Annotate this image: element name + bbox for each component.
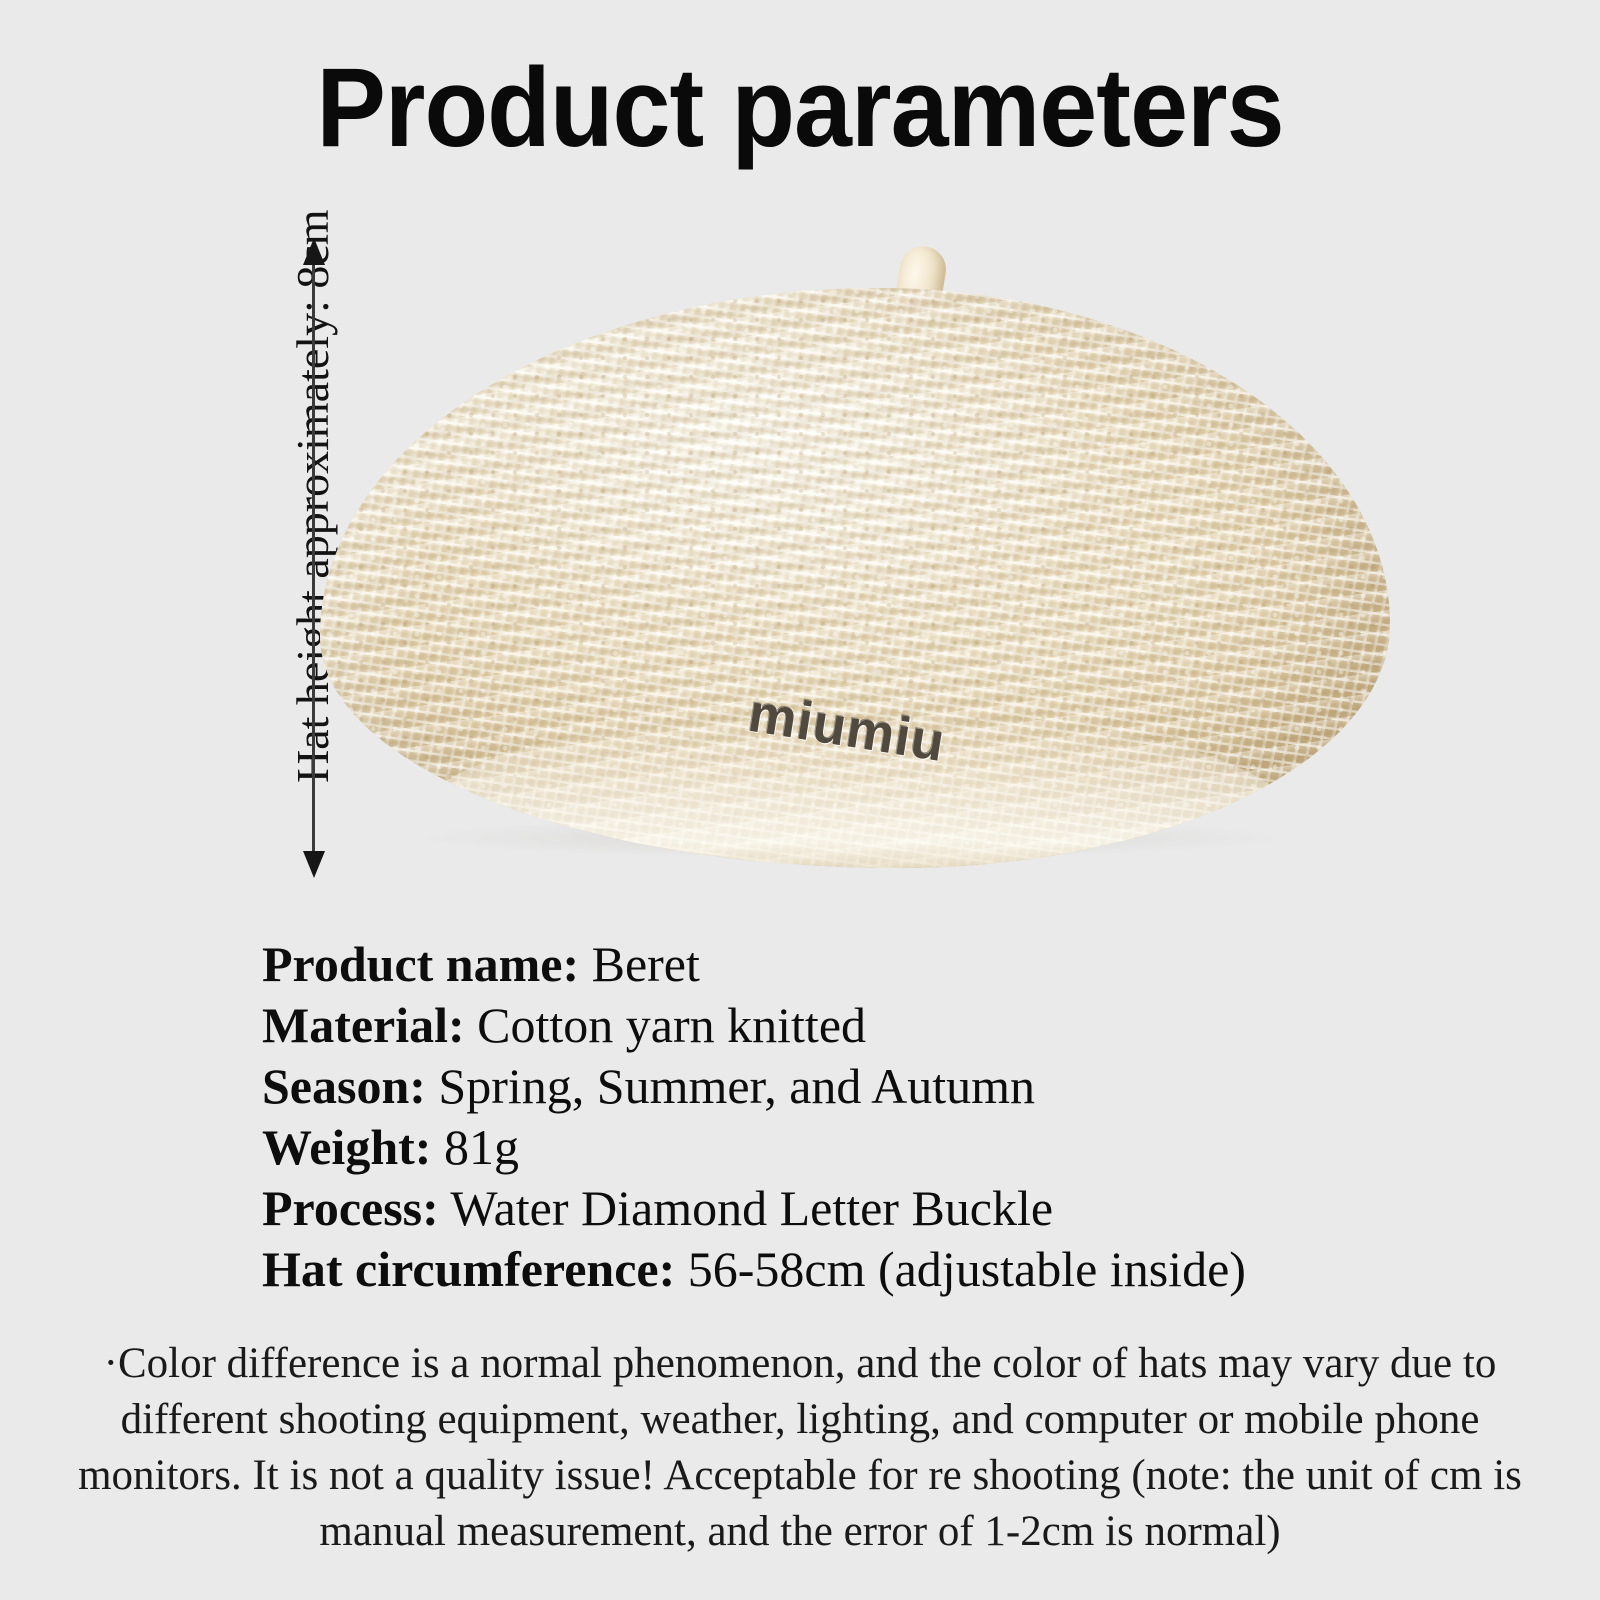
spec-value: Cotton yarn knitted [465, 997, 866, 1053]
spec-row: Season: Spring, Summer, and Autumn [262, 1056, 1412, 1117]
spec-row: Material: Cotton yarn knitted [262, 995, 1412, 1056]
spec-value: Water Diamond Letter Buckle [439, 1180, 1053, 1236]
page-title: Product parameters [56, 52, 1544, 164]
spec-row: Process: Water Diamond Letter Buckle [262, 1178, 1412, 1239]
spec-key: Process: [262, 1180, 439, 1236]
product-image: miumiu [300, 240, 1390, 890]
spec-value: 56-58cm (adjustable inside) [675, 1241, 1246, 1297]
spec-value: Beret [579, 936, 700, 992]
spec-key: Season: [262, 1058, 426, 1114]
spec-key: Hat circumference: [262, 1241, 675, 1297]
spec-row: Hat circumference: 56-58cm (adjustable i… [262, 1239, 1412, 1300]
spec-key: Material: [262, 997, 465, 1053]
color-difference-disclaimer: ·Color difference is a normal phenomenon… [52, 1336, 1548, 1560]
hat-body: miumiu [320, 288, 1390, 868]
spec-value: 81g [431, 1119, 519, 1175]
product-spec-list: Product name: Beret Material: Cotton yar… [262, 934, 1412, 1300]
spec-row: Product name: Beret [262, 934, 1412, 995]
spec-key: Weight: [262, 1119, 431, 1175]
spec-row: Weight: 81g [262, 1117, 1412, 1178]
spec-value: Spring, Summer, and Autumn [426, 1058, 1035, 1114]
spec-key: Product name: [262, 936, 579, 992]
